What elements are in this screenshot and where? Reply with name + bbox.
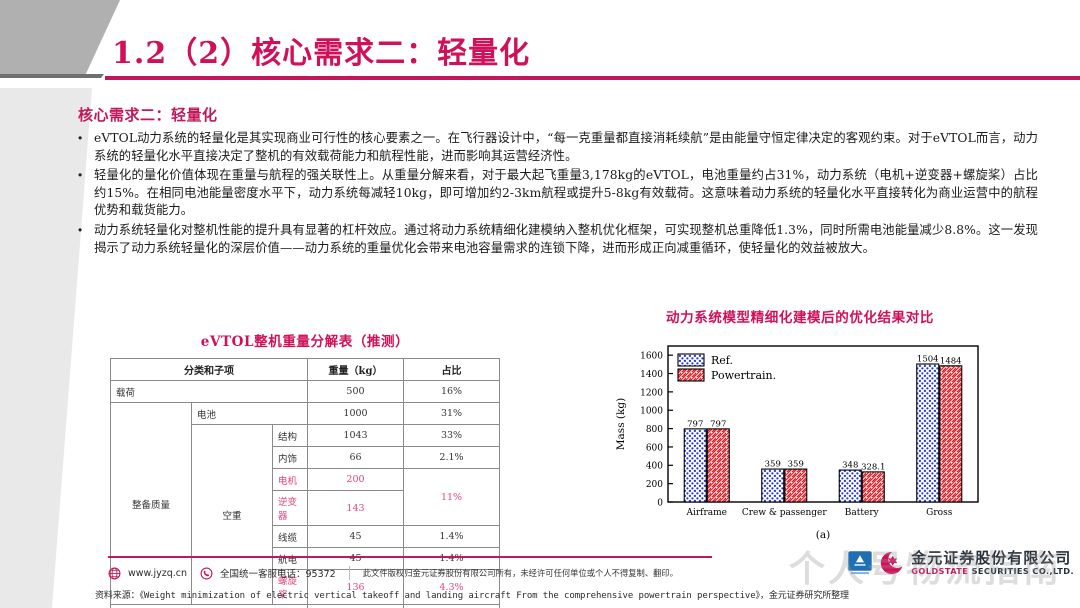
- column-header-share: 占比: [404, 359, 500, 381]
- goldstate-mark-icon: [879, 550, 905, 576]
- title-underline: [105, 76, 1080, 80]
- list-item: • 轻量化的量化价值体现在重量与航程的强关联性上。从重量分解来看，对于最大起飞重…: [78, 167, 1038, 220]
- bullet-marker: •: [78, 130, 94, 148]
- table-row: 载荷 500 16%: [111, 381, 500, 403]
- table-row: 整备质量 电池 1000 31%: [111, 403, 500, 425]
- svg-text:Mass (kg): Mass (kg): [615, 398, 627, 450]
- cell-weight: 66: [308, 447, 404, 469]
- svg-text:1600: 1600: [640, 352, 663, 362]
- cell-category: 载荷: [111, 381, 308, 403]
- cell-weight: 200: [308, 469, 404, 491]
- section-heading: 核心需求二：轻量化: [78, 104, 218, 125]
- svg-text:1400: 1400: [640, 370, 663, 380]
- column-header-weight: 重量（kg）: [308, 359, 404, 381]
- cell-item: 内饰: [273, 447, 308, 469]
- phone-icon: [200, 567, 213, 580]
- bullet-text: 轻量化的量化价值体现在重量与航程的强关联性上。从重量分解来看，对于最大起飞重量3…: [94, 167, 1038, 220]
- bullet-list: • eVTOL动力系统的轻量化是其实现商业可行性的核心要素之一。在飞行器设计中，…: [78, 130, 1038, 259]
- footer-copyright: 此文件版权归金元证券股份有限公司所有，未经许可任何单位或个人不得复制、翻印。: [363, 567, 678, 579]
- cell-total-share: —: [404, 605, 500, 608]
- svg-text:797: 797: [687, 419, 703, 429]
- svg-text:797: 797: [710, 419, 726, 429]
- logo-company-en: GOLDSTATE SECURITIES CO.,LTD.: [911, 567, 1074, 576]
- footer-website[interactable]: www.jyzq.cn: [128, 568, 187, 579]
- cell-item: 电机: [273, 469, 308, 491]
- chart-caption: 动力系统模型精细化建模后的优化结果对比: [600, 306, 1000, 326]
- svg-text:Powertrain.: Powertrain.: [711, 369, 776, 382]
- column-header-category: 分类和子项: [111, 359, 308, 381]
- table-header-row: 分类和子项 重量（kg） 占比: [111, 359, 500, 381]
- footer-hotline: 全国统一客服电话：95372: [220, 566, 336, 580]
- svg-text:1504: 1504: [917, 354, 939, 364]
- bar-chart-svg: 02004006008001000120014001600Mass (kg)79…: [606, 332, 996, 547]
- bar-chart: 02004006008001000120014001600Mass (kg)79…: [606, 332, 996, 547]
- svg-text:328.1: 328.1: [861, 462, 885, 472]
- cell-weight: 45: [308, 526, 404, 548]
- logo-company-cn: 金元证券股份有限公司: [911, 551, 1074, 567]
- cell-share: 16%: [404, 381, 500, 403]
- cell-share-merged: 11%: [404, 469, 500, 526]
- footer-bar: www.jyzq.cn 全国统一客服电话：95372 此文件版权归金元证券股份有…: [108, 562, 718, 584]
- cell-weight: 500: [308, 381, 404, 403]
- logo-brand-en: GOLDSTATE: [911, 566, 968, 576]
- cell-share: 1.4%: [404, 526, 500, 548]
- table-total-row: 重量合计 3178 —: [111, 605, 500, 608]
- list-item: • 动力系统轻量化对整机性能的提升具有显著的杠杆效应。通过将动力系统精细化建模纳…: [78, 222, 1038, 257]
- footer-separator: [349, 566, 350, 580]
- cell-total-label: 重量合计: [111, 605, 308, 608]
- svg-text:359: 359: [788, 460, 804, 470]
- globe-icon: [108, 567, 121, 580]
- page-title: 1.2（2）核心需求二：轻量化: [112, 28, 530, 72]
- cell-subcategory-battery: 电池: [192, 403, 308, 425]
- bullet-text: eVTOL动力系统的轻量化是其实现商业可行性的核心要素之一。在飞行器设计中，“每…: [94, 130, 1038, 165]
- svg-text:800: 800: [646, 425, 663, 435]
- cell-total-weight: 3178: [308, 605, 404, 608]
- svg-text:(a): (a): [816, 529, 830, 541]
- cell-item: 逆变器: [273, 491, 308, 526]
- svg-text:0: 0: [657, 498, 663, 508]
- chart-block: 动力系统模型精细化建模后的优化结果对比 02004006008001000120…: [600, 306, 1000, 547]
- svg-text:1200: 1200: [640, 388, 663, 398]
- svg-text:359: 359: [765, 460, 781, 470]
- svg-text:Ref.: Ref.: [711, 354, 733, 367]
- cell-share: 31%: [404, 403, 500, 425]
- source-note: 资料来源：《Weight minimization of electric ve…: [95, 588, 849, 601]
- svg-text:Gross: Gross: [926, 508, 953, 518]
- cell-item: 结构: [273, 425, 308, 447]
- footer-divider: [108, 556, 712, 558]
- svg-text:Crew & passenger: Crew & passenger: [742, 508, 828, 518]
- decorative-header-block: [0, 0, 120, 78]
- svg-text:600: 600: [646, 443, 663, 453]
- table-caption: eVTOL整机重量分解表（推测）: [110, 330, 500, 350]
- decorative-header-edge: [0, 74, 104, 78]
- cell-weight: 1000: [308, 403, 404, 425]
- bullet-text: 动力系统轻量化对整机性能的提升具有显著的杠杆效应。通过将动力系统精细化建模纳入整…: [94, 222, 1038, 257]
- list-item: • eVTOL动力系统的轻量化是其实现商业可行性的核心要素之一。在飞行器设计中，…: [78, 130, 1038, 165]
- cell-weight: 1043: [308, 425, 404, 447]
- logo-text: 金元证券股份有限公司 GOLDSTATE SECURITIES CO.,LTD.: [911, 551, 1074, 575]
- bullet-marker: •: [78, 222, 94, 240]
- cell-weight: 143: [308, 491, 404, 526]
- bullet-marker: •: [78, 167, 94, 185]
- cell-item: 线缆: [273, 526, 308, 548]
- svg-text:Airframe: Airframe: [685, 508, 727, 518]
- svg-text:Battery: Battery: [845, 508, 880, 518]
- svg-text:400: 400: [646, 462, 663, 472]
- logo-suffix-en: SECURITIES CO.,LTD.: [972, 566, 1074, 576]
- svg-text:348: 348: [842, 461, 858, 471]
- partner-badge-icon: [847, 550, 873, 576]
- slide: 1.2（2）核心需求二：轻量化 核心需求二：轻量化 • eVTOL动力系统的轻量…: [0, 0, 1080, 608]
- svg-text:1000: 1000: [640, 407, 663, 417]
- cell-share: 33%: [404, 425, 500, 447]
- svg-text:200: 200: [646, 480, 663, 490]
- cell-share: 2.1%: [404, 447, 500, 469]
- company-logo: 金元证券股份有限公司 GOLDSTATE SECURITIES CO.,LTD.: [847, 550, 1074, 576]
- svg-text:1484: 1484: [940, 356, 962, 366]
